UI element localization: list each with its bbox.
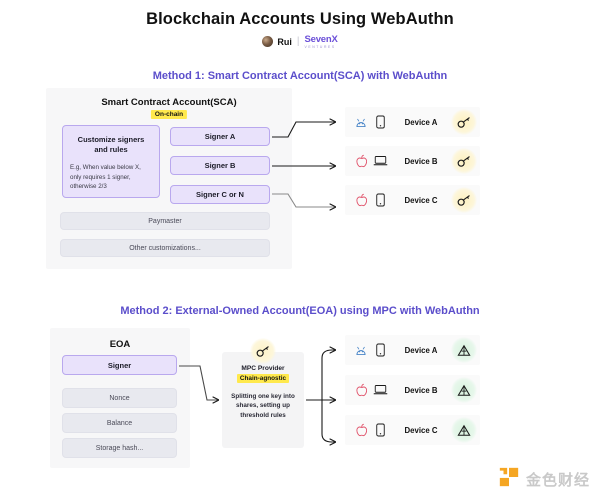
paymaster-box[interactable]: Paymaster: [60, 212, 270, 230]
device-row-a-method1[interactable]: Device A: [345, 107, 480, 137]
other-customizations-box[interactable]: Other customizations...: [60, 239, 270, 257]
method-2-heading: Method 2: External-Owned Account(EOA) us…: [0, 305, 600, 317]
android-icon: [351, 117, 371, 128]
eoa-panel-title: EOA: [50, 339, 190, 350]
apple-icon: [351, 154, 371, 168]
other-customizations-label: Other customizations...: [129, 245, 201, 252]
eoa-signer-label: Signer: [108, 361, 131, 370]
byline-separator: |: [296, 36, 301, 47]
apple-icon: [351, 383, 371, 397]
device-name-b-method2: Device B: [389, 386, 451, 395]
eoa-balance-box[interactable]: Balance: [62, 413, 177, 433]
byline: Rui | SevenX VENTURES: [0, 35, 600, 49]
customize-signers-box: Customize signers and rules E.g, When va…: [62, 125, 160, 198]
sca-panel-title: Smart Contract Account(SCA): [46, 97, 292, 108]
key-icon: [451, 148, 477, 174]
eoa-storage-hash-box[interactable]: Storage hash...: [62, 438, 177, 458]
byline-author: Rui: [277, 37, 292, 47]
signer-b-box[interactable]: Signer B: [170, 156, 270, 175]
device-name-a-method1: Device A: [389, 118, 451, 127]
device-row-b-method1[interactable]: Device B: [345, 146, 480, 176]
jinse-logo-icon: [498, 466, 520, 493]
brand-logo: SevenX VENTURES: [304, 35, 337, 49]
device-row-b-method2[interactable]: Device B: [345, 375, 480, 405]
key-icon: [451, 187, 477, 213]
eoa-signer-box[interactable]: Signer: [62, 355, 177, 375]
mpc-provider-description: Splitting one key into shares, setting u…: [222, 392, 304, 420]
signer-a-label: Signer A: [205, 132, 236, 141]
watermark-text: 金色财经: [526, 469, 590, 490]
device-row-c-method1[interactable]: Device C: [345, 185, 480, 215]
infographic-canvas: Blockchain Accounts Using WebAuthn Rui |…: [0, 0, 600, 503]
avatar: [262, 36, 273, 47]
mpc-provider-title: MPC Provider: [241, 365, 284, 372]
key-icon: [451, 109, 477, 135]
phone-icon: [371, 193, 389, 207]
android-icon: [351, 345, 371, 356]
chain-agnostic-badge: Chain-agnostic: [237, 374, 289, 383]
apple-icon: [351, 193, 371, 207]
apple-icon: [351, 423, 371, 437]
paymaster-label: Paymaster: [148, 218, 181, 225]
device-name-a-method2: Device A: [389, 346, 451, 355]
brand-name: SevenX: [304, 35, 337, 45]
signer-c-box[interactable]: Signer C or N: [170, 185, 270, 204]
phone-icon: [371, 423, 389, 437]
shard-icon: [451, 377, 477, 403]
eoa-storage-hash-label: Storage hash...: [96, 445, 143, 452]
phone-icon: [371, 115, 389, 129]
method-1-heading: Method 1: Smart Contract Account(SCA) wi…: [0, 70, 600, 82]
device-row-a-method2[interactable]: Device A: [345, 335, 480, 365]
on-chain-badge: On-chain: [151, 110, 187, 119]
customize-signers-description: E.g, When value below X, only requires 1…: [70, 163, 152, 192]
laptop-icon: [371, 155, 389, 167]
device-row-c-method2[interactable]: Device C: [345, 415, 480, 445]
phone-icon: [371, 343, 389, 357]
customize-signers-title: Customize signers and rules: [70, 135, 152, 155]
device-name-b-method1: Device B: [389, 157, 451, 166]
watermark: 金色财经: [498, 466, 590, 493]
page-title: Blockchain Accounts Using WebAuthn: [0, 10, 600, 29]
eoa-nonce-label: Nonce: [109, 395, 129, 402]
signer-b-label: Signer B: [205, 161, 236, 170]
device-name-c-method2: Device C: [389, 426, 451, 435]
eoa-nonce-box[interactable]: Nonce: [62, 388, 177, 408]
signer-c-label: Signer C or N: [196, 190, 244, 199]
eoa-balance-label: Balance: [107, 420, 132, 427]
signer-a-box[interactable]: Signer A: [170, 127, 270, 146]
device-name-c-method1: Device C: [389, 196, 451, 205]
mpc-provider-box: MPC Provider Chain-agnostic Splitting on…: [222, 352, 304, 448]
laptop-icon: [371, 384, 389, 396]
key-icon: [250, 338, 276, 364]
shard-icon: [451, 337, 477, 363]
shard-icon: [451, 417, 477, 443]
brand-subtitle: VENTURES: [304, 46, 337, 49]
